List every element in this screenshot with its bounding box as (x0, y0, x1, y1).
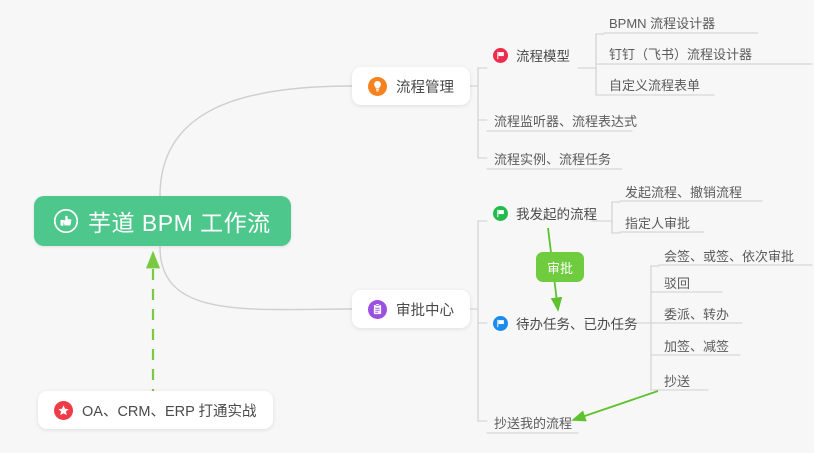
lightbulb-icon (368, 77, 387, 96)
leaf-label: 流程监听器、流程表达式 (494, 115, 637, 128)
flag-red-icon (493, 48, 508, 63)
leaf-assignee-approval[interactable]: 指定人审批 (620, 209, 696, 237)
branch-node-process-management[interactable]: 流程管理 (352, 67, 470, 105)
node-label: 待办任务、已办任务 (516, 313, 638, 333)
node-my-initiated-process[interactable]: 我发起的流程 (489, 199, 601, 227)
branch-label: 审批中心 (396, 299, 454, 320)
leaf-custom-process-form[interactable]: 自定义流程表单 (604, 71, 706, 99)
leaf-label: 流程实例、流程任务 (494, 153, 611, 166)
node-process-model[interactable]: 流程模型 (489, 41, 574, 69)
leaf-delegate-transfer[interactable]: 委派、转办 (659, 300, 735, 328)
leaf-label: 自定义流程表单 (609, 79, 700, 92)
leaf-label: 抄送我的流程 (494, 417, 572, 430)
callout-chip-approval[interactable]: 审批 (536, 252, 584, 282)
leaf-bpmn-designer[interactable]: BPMN 流程设计器 (604, 9, 721, 37)
leaf-process-listener-expression[interactable]: 流程监听器、流程表达式 (489, 107, 643, 135)
leaf-start-cancel-process[interactable]: 发起流程、撤销流程 (620, 178, 748, 206)
root-node[interactable]: 芋道 BPM 工作流 (34, 196, 291, 246)
branch-node-approval-center[interactable]: 审批中心 (352, 290, 470, 328)
thumbs-up-icon (54, 209, 78, 233)
leaf-label: 委派、转办 (664, 308, 729, 321)
clipboard-icon (368, 300, 387, 319)
leaf-cc[interactable]: 抄送 (659, 367, 696, 395)
note-node-oa-crm-erp[interactable]: OA、CRM、ERP 打通实战 (38, 391, 273, 429)
leaf-label: 发起流程、撤销流程 (625, 186, 742, 199)
leaf-label: 抄送 (664, 375, 690, 388)
leaf-reject[interactable]: 驳回 (659, 269, 696, 297)
leaf-process-instance-task[interactable]: 流程实例、流程任务 (489, 145, 617, 173)
flag-green-icon (493, 206, 508, 221)
flag-blue-icon (493, 316, 508, 331)
node-label: 我发起的流程 (516, 203, 597, 223)
leaf-cc-to-me-process[interactable]: 抄送我的流程 (489, 409, 578, 437)
star-icon (54, 401, 73, 420)
leaf-countersign-orsign-sequential[interactable]: 会签、或签、依次审批 (659, 242, 800, 270)
note-label: OA、CRM、ERP 打通实战 (82, 400, 257, 421)
leaf-label: BPMN 流程设计器 (609, 17, 715, 30)
leaf-add-remove-sign[interactable]: 加签、减签 (659, 332, 735, 360)
leaf-label: 指定人审批 (625, 217, 690, 230)
leaf-dingtalk-feishu-designer[interactable]: 钉钉（飞书）流程设计器 (604, 40, 758, 68)
root-label: 芋道 BPM 工作流 (88, 204, 271, 238)
leaf-label: 驳回 (664, 277, 690, 290)
leaf-label: 加签、减签 (664, 340, 729, 353)
branch-label: 流程管理 (396, 76, 454, 97)
node-label: 流程模型 (516, 45, 570, 65)
leaf-label: 会签、或签、依次审批 (664, 250, 794, 263)
callout-label: 审批 (547, 258, 573, 277)
node-todo-done-task[interactable]: 待办任务、已办任务 (489, 309, 642, 337)
mindmap-canvas: 芋道 BPM 工作流 OA、CRM、ERP 打通实战 流程管理 (0, 0, 814, 453)
leaf-label: 钉钉（飞书）流程设计器 (609, 48, 752, 61)
